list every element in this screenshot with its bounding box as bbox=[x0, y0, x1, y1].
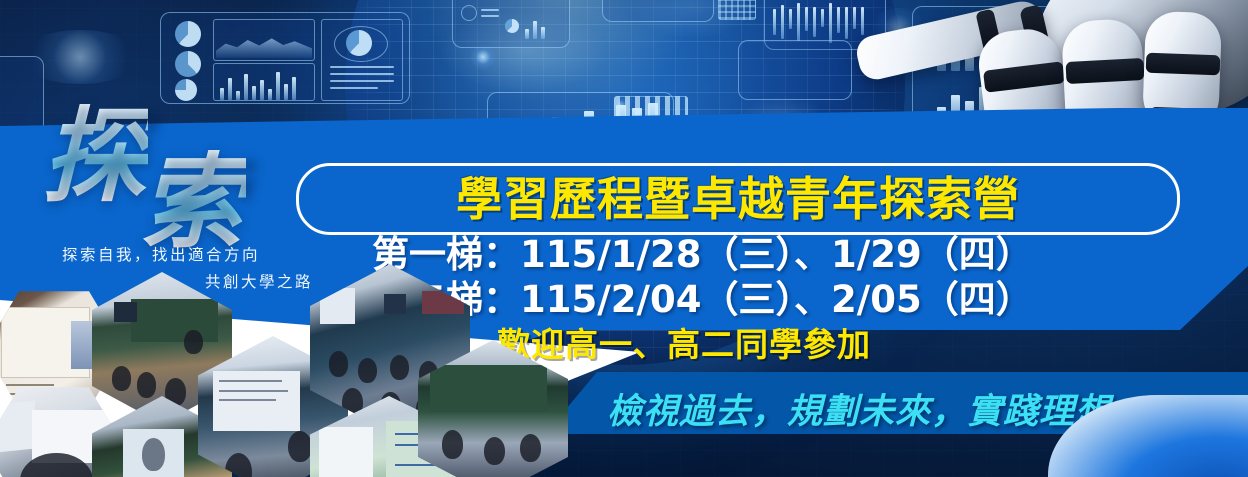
dashboard-panel-icon bbox=[738, 40, 852, 100]
bar bbox=[292, 77, 296, 100]
candle bbox=[789, 9, 792, 29]
subtitle-line-1: 探索自我，找出適合方向 bbox=[62, 243, 260, 267]
pie-chart-icon bbox=[175, 51, 201, 77]
dashboard-panel-icon bbox=[160, 12, 410, 104]
person-head bbox=[288, 431, 312, 463]
candle bbox=[805, 7, 808, 31]
bar bbox=[228, 78, 232, 100]
session-date-1: 第一梯：115/1/28（三）、1/29（四） bbox=[372, 232, 1162, 277]
presentation-board bbox=[320, 288, 355, 325]
whiteboard bbox=[319, 427, 373, 477]
text-line bbox=[330, 80, 394, 82]
bar bbox=[533, 21, 537, 39]
person-head bbox=[484, 437, 505, 465]
dashboard-panel-icon bbox=[452, 0, 570, 48]
text-line bbox=[481, 9, 499, 11]
candle bbox=[781, 5, 784, 39]
area-chart-fill bbox=[216, 34, 312, 58]
dashboard-panel-icon bbox=[602, 0, 714, 22]
candle bbox=[797, 3, 800, 41]
pie-chart-icon bbox=[346, 30, 372, 56]
area-chart-icon bbox=[213, 19, 315, 61]
tagline-text: 檢視過去，規劃未來，實踐理想 bbox=[607, 383, 1111, 434]
text-line bbox=[330, 66, 394, 68]
gauge-icon bbox=[461, 5, 477, 21]
laptop bbox=[0, 400, 34, 453]
person-head bbox=[112, 366, 132, 390]
bar bbox=[525, 29, 529, 39]
grid-panel-icon bbox=[718, 0, 756, 20]
person-head bbox=[329, 351, 348, 376]
robot-knuckle bbox=[1065, 58, 1144, 84]
pie-chart-icon bbox=[175, 21, 201, 47]
robot-knuckle bbox=[1146, 53, 1221, 76]
brush-title-char-2: 索 bbox=[140, 150, 246, 254]
welcome-note: 歡迎高一、高二同學參加 bbox=[497, 318, 871, 366]
blackboard bbox=[430, 365, 547, 412]
person-head bbox=[137, 372, 157, 398]
text-line bbox=[481, 15, 499, 17]
monitor bbox=[384, 294, 406, 314]
page-title: 學習歷程暨卓越青年探索營 bbox=[456, 176, 1020, 222]
photo-collage bbox=[0, 288, 520, 477]
person-head bbox=[390, 355, 409, 380]
bar bbox=[244, 74, 248, 100]
main-title-pill: 學習歷程暨卓越青年探索營 bbox=[296, 163, 1180, 235]
caption-line bbox=[6, 384, 54, 386]
person-head bbox=[184, 330, 202, 354]
bar bbox=[284, 84, 288, 100]
bar bbox=[236, 91, 240, 100]
banner bbox=[422, 291, 464, 315]
candle bbox=[813, 7, 816, 37]
pie-chart-icon bbox=[175, 79, 197, 101]
blackboard bbox=[131, 299, 218, 342]
slide-text-line bbox=[219, 380, 282, 382]
monitor bbox=[114, 302, 136, 322]
event-poster: 探 索 探索自我，找出適合方向 共創大學之路 學習歷程暨卓越青年探索營 第一梯：… bbox=[0, 0, 1248, 477]
bar bbox=[541, 27, 545, 39]
pie-chart-icon bbox=[505, 19, 519, 33]
bar bbox=[276, 72, 280, 100]
person-head bbox=[520, 434, 541, 462]
bar bbox=[252, 86, 256, 100]
candle bbox=[821, 9, 824, 27]
person-head bbox=[358, 358, 377, 383]
text-line bbox=[330, 87, 378, 89]
bar bbox=[220, 88, 224, 100]
person-head bbox=[442, 430, 463, 458]
person-on-screen bbox=[142, 438, 164, 471]
text-line bbox=[330, 73, 394, 75]
bar bbox=[260, 80, 264, 100]
bar-chart-icon bbox=[213, 63, 315, 101]
slide-text-line bbox=[219, 390, 288, 392]
report-panel-icon bbox=[321, 19, 403, 101]
bar bbox=[268, 89, 272, 100]
candle bbox=[829, 3, 832, 43]
candle bbox=[773, 9, 776, 35]
slide-text-line bbox=[219, 399, 276, 401]
brush-title-char-1: 探 bbox=[42, 104, 148, 208]
